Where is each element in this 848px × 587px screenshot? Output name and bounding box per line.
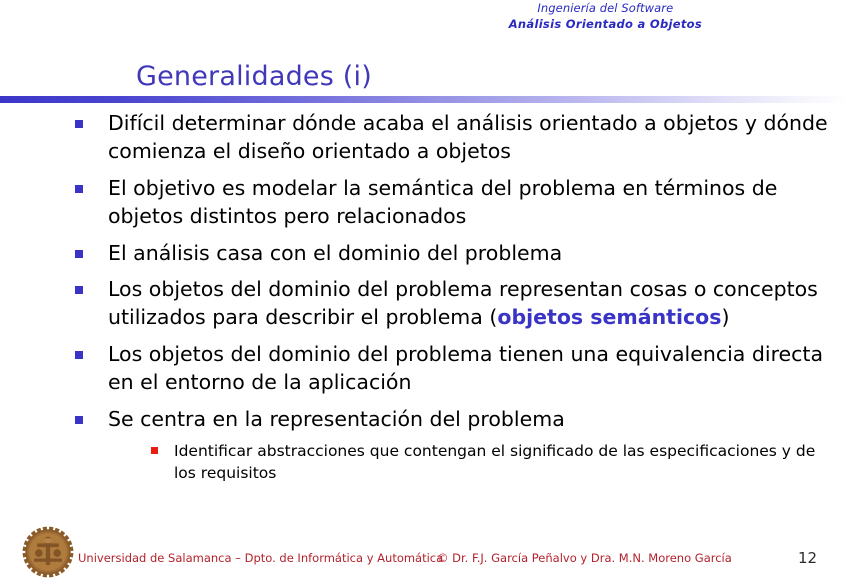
universidad-de-salamanca-seal-icon [20,525,76,579]
list-item-emphasis: objetos semánticos [497,305,721,329]
page-title: Generalidades (i) [136,61,372,92]
slide-page-number: 12 [798,549,817,567]
list-item: Los objetos del dominio del problema tie… [72,341,834,397]
square-bullet-icon [75,185,83,193]
list-item-text: El objetivo es modelar la semántica del … [108,176,777,228]
list-item-text: Los objetos del dominio del problema tie… [108,342,823,394]
slide-header: Ingeniería del Software Análisis Orienta… [509,2,702,31]
list-item: El análisis casa con el dominio del prob… [72,240,834,268]
list-item: El objetivo es modelar la semántica del … [72,175,834,231]
list-item: Los objetos del dominio del problema rep… [72,276,834,332]
footer-copyright-text: © Dr. F.J. García Peñalvo y Dra. M.N. Mo… [437,551,732,565]
list-item-text: El análisis casa con el dominio del prob… [108,241,562,265]
square-bullet-icon [75,286,83,294]
header-topic-name: Análisis Orientado a Objetos [509,18,702,32]
sub-list-item-text: Identificar abstracciones que contengan … [174,442,815,482]
list-item-text: Se centra en la representación del probl… [108,407,565,431]
list-item: Se centra en la representación del probl… [72,406,834,484]
bullet-list: Difícil determinar dónde acaba el anális… [72,110,834,493]
list-item-text-tail: ) [721,305,729,329]
slide-footer: Universidad de Salamanca – Dpto. de Info… [0,521,848,587]
sub-list-item: Identificar abstracciones que contengan … [108,440,834,484]
square-bullet-icon [75,351,83,359]
header-course-name: Ingeniería del Software [509,2,702,16]
title-divider-rule [0,96,848,103]
footer-institution-text: Universidad de Salamanca – Dpto. de Info… [78,551,443,565]
square-bullet-icon [75,120,83,128]
square-bullet-icon [75,250,83,258]
square-bullet-icon [75,416,83,424]
list-item: Difícil determinar dónde acaba el anális… [72,110,834,166]
sub-bullet-list: Identificar abstracciones que contengan … [108,440,834,484]
square-sub-bullet-icon [151,447,158,454]
list-item-text: Difícil determinar dónde acaba el anális… [108,111,828,163]
